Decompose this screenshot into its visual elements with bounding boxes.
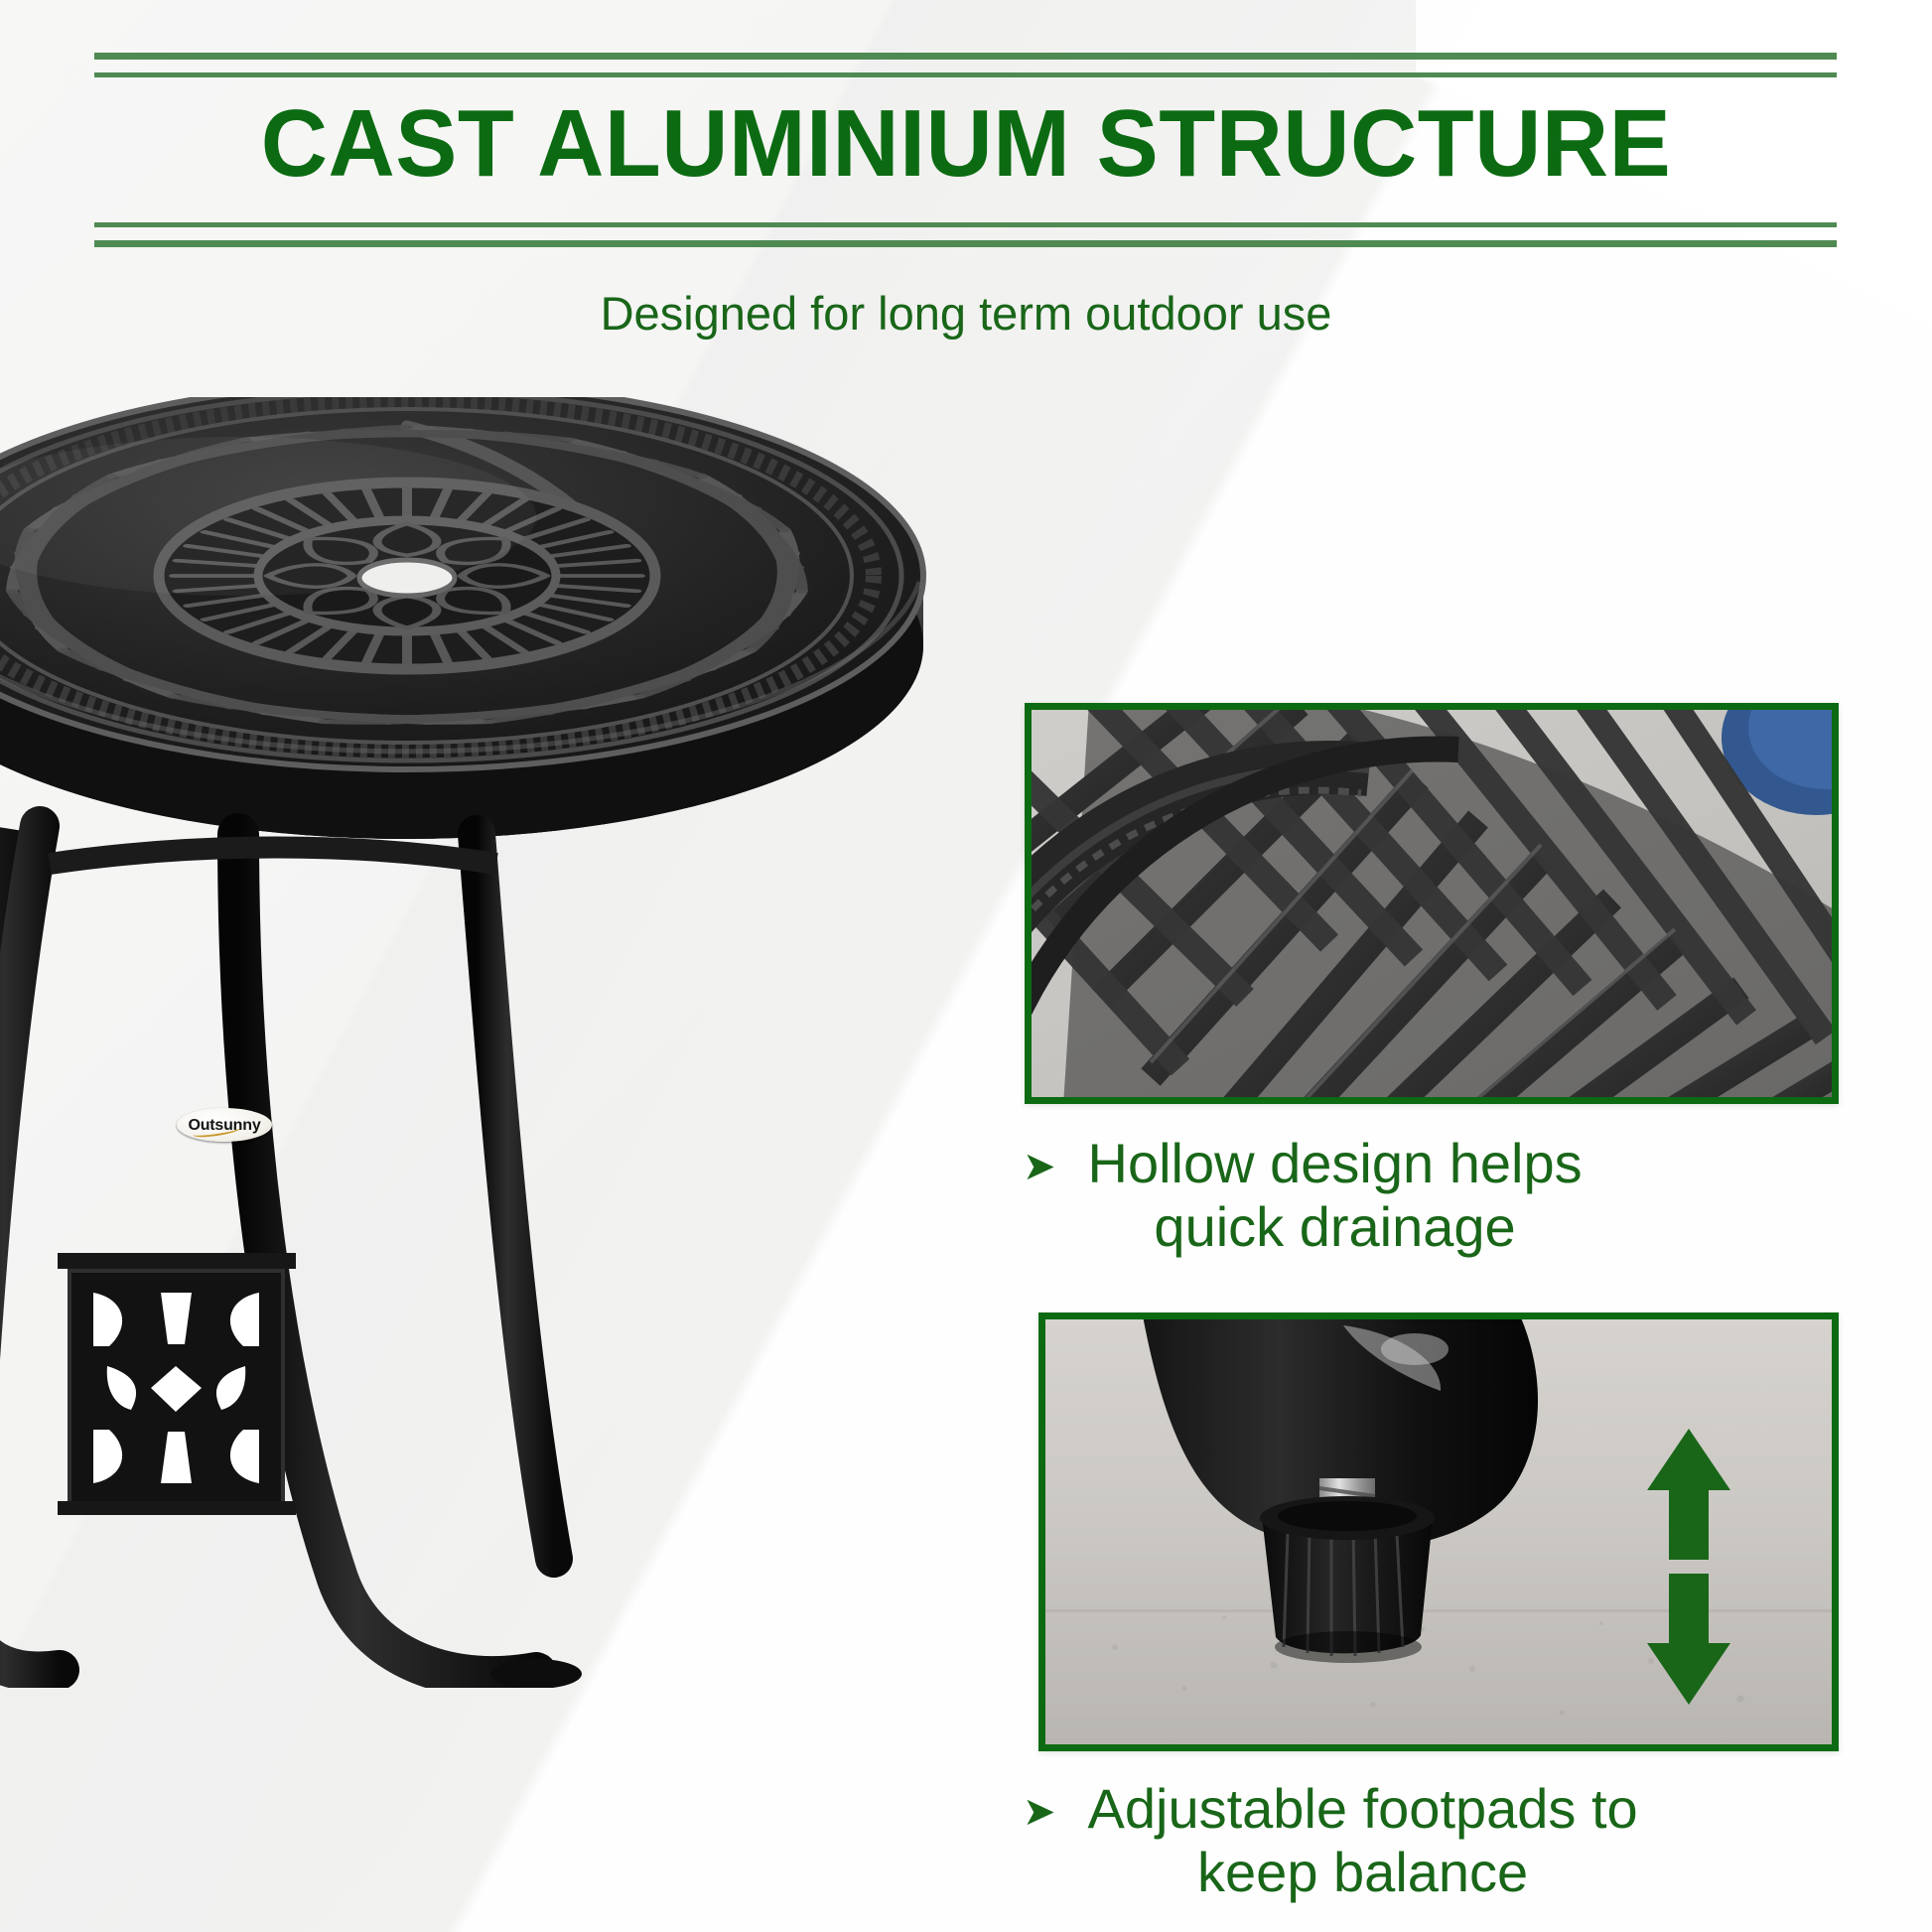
page-subtitle: Designed for long term outdoor use bbox=[0, 285, 1932, 343]
brand-badge-label: Outsunny bbox=[188, 1117, 260, 1135]
rule-thick-top bbox=[94, 53, 1837, 60]
header-rule-top bbox=[94, 53, 1837, 77]
header-rule-bottom bbox=[94, 222, 1837, 247]
arrow-bullet-icon: ➤ bbox=[1023, 1781, 1056, 1843]
rule-thin-top bbox=[94, 72, 1837, 77]
feature-image-drainage bbox=[1025, 703, 1839, 1104]
feature-image-footpads bbox=[1038, 1312, 1839, 1751]
brand-badge: Outsunny bbox=[177, 1108, 272, 1142]
infographic-page: CAST ALUMINIUM STRUCTURE Designed for lo… bbox=[0, 0, 1932, 1932]
hero-product-image: Outsunny bbox=[0, 397, 993, 1688]
page-title: CAST ALUMINIUM STRUCTURE bbox=[29, 85, 1903, 203]
feature-caption-drainage: ➤ Hollow design helps quick drainage bbox=[1023, 1132, 1847, 1259]
arrow-bullet-icon: ➤ bbox=[1023, 1136, 1056, 1197]
feature-caption-text: Adjustable footpads to keep balance bbox=[1088, 1777, 1638, 1904]
rule-thin-bottom bbox=[94, 222, 1837, 227]
background-corner-highlight bbox=[1416, 0, 1932, 556]
rule-thick-bottom bbox=[94, 240, 1837, 247]
feature-caption-text: Hollow design helps quick drainage bbox=[1088, 1132, 1583, 1259]
feature-caption-footpads: ➤ Adjustable footpads to keep balance bbox=[1023, 1777, 1847, 1904]
